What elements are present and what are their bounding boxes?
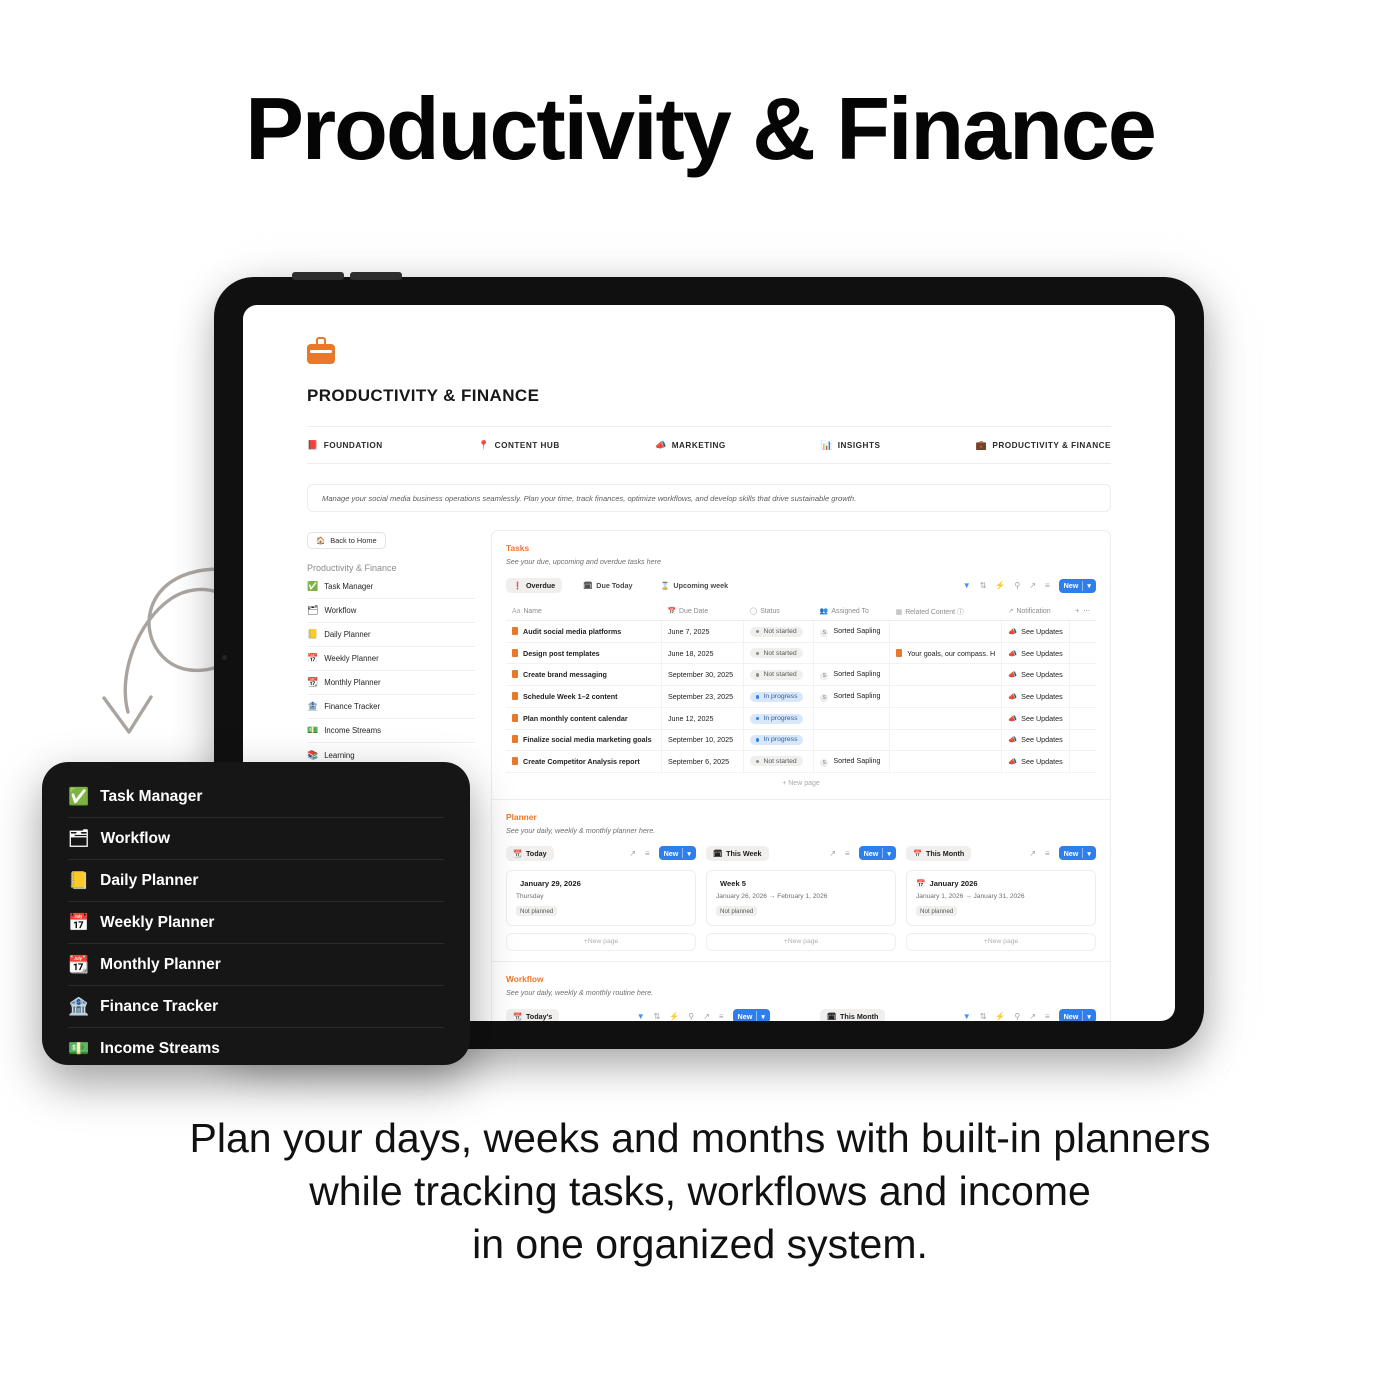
sidebar-item-label: Learning [324, 751, 354, 760]
cell-name[interactable]: Create Competitor Analysis report [506, 750, 661, 772]
status-badge: Not planned [716, 906, 757, 916]
cell-related-content[interactable] [890, 664, 1002, 686]
caption-line-2: while tracking tasks, workflows and inco… [0, 1165, 1400, 1218]
briefcase-icon [307, 337, 335, 364]
workflow-left-tools: ▼ ⇅ ⚡ ⚲ ↗ ≡ New ▾ [637, 1009, 770, 1021]
new-button[interactable]: New▾ [859, 846, 896, 860]
settings-icon[interactable]: ≡ [1045, 1012, 1050, 1021]
sort-icon[interactable]: ⇅ [980, 581, 987, 590]
home-icon: 🏠 [316, 536, 325, 545]
settings-icon[interactable]: ≡ [845, 849, 850, 858]
overdue-icon: ❗ [513, 581, 522, 590]
nav-label: INSIGHTS [838, 441, 881, 450]
page-description: Manage your social media business operat… [307, 484, 1111, 512]
sidebar-heading: Productivity & Finance [307, 563, 475, 573]
weekly-planner-icon: 📅 [307, 653, 318, 664]
planner-tools: ↗≡New▾ [629, 846, 696, 860]
expand-icon[interactable]: ↗ [829, 849, 836, 858]
planner-chip[interactable]: 📅This Month [906, 846, 971, 861]
sidebar-item-workflow[interactable]: 🗂 Workflow [307, 599, 475, 623]
foundation-icon: 📕 [307, 441, 319, 450]
page-icon [512, 627, 518, 635]
overlay-item-label: Income Streams [100, 1040, 220, 1058]
workflow-icon: 🗂 [68, 829, 90, 849]
marketing-icon: 📣 [655, 441, 667, 450]
planner-column-0: 📆Today↗≡New▾January 29, 2026ThursdayNot … [506, 846, 696, 951]
chevron-down-icon[interactable]: ▾ [1087, 849, 1091, 858]
chip-label: Today's [526, 1012, 552, 1021]
planner-card[interactable]: 📅January 2026January 1, 2026 → January 3… [906, 870, 1096, 926]
page-description-text: Manage your social media business operat… [322, 494, 856, 503]
sidebar-item-label: Weekly Planner [324, 654, 378, 663]
nav-label: PRODUCTIVITY & FINANCE [992, 441, 1111, 450]
automation-icon[interactable]: ⚡ [995, 1012, 1005, 1021]
planner-subtitle: See your daily, weekly & monthly planner… [506, 826, 1096, 835]
highlight-menu-overlay: ✅Task Manager🗂Workflow📒Daily Planner📅Wee… [42, 762, 470, 1065]
calendar-icon: 🗓 [827, 1012, 836, 1021]
tasks-title: Tasks [506, 543, 1096, 553]
overlay-item-label: Task Manager [100, 788, 202, 806]
workflow-toolbar-row: 📆 Today's ▼ ⇅ ⚡ ⚲ ↗ ≡ [506, 1009, 1096, 1021]
cell-name[interactable]: Design post templates [506, 643, 661, 664]
settings-icon[interactable]: ≡ [719, 1012, 724, 1021]
new-button[interactable]: New ▾ [733, 1009, 770, 1021]
calendar-icon: 📅 [913, 849, 922, 858]
nav-item-content-hub[interactable]: 📍 CONTENT HUB [478, 441, 560, 450]
col-status[interactable]: ◯Status [743, 602, 813, 621]
cell-due-date[interactable]: September 6, 2025 [661, 750, 743, 772]
tab-label: Due Today [596, 581, 632, 590]
status-badge: Not planned [516, 906, 557, 916]
cell-status[interactable]: Not started [743, 664, 813, 686]
page-title: PRODUCTIVITY & FINANCE [307, 386, 1153, 406]
cell-name[interactable]: Audit social media platforms [506, 621, 661, 643]
automation-icon[interactable]: ⚡ [669, 1012, 679, 1021]
cell-blank [1069, 621, 1096, 643]
hourglass-icon: ⌛ [660, 581, 669, 590]
cell-assigned-to[interactable] [814, 643, 890, 664]
col-assigned-to[interactable]: 👥Assigned To [814, 602, 890, 621]
expand-icon[interactable]: ↗ [703, 1012, 710, 1021]
chip-label: This Month [840, 1012, 878, 1021]
filter-icon[interactable]: ▼ [963, 581, 971, 590]
cell-assigned-to[interactable]: SSorted Sapling [814, 750, 890, 772]
sort-icon[interactable]: ⇅ [654, 1012, 661, 1021]
cell-due-date[interactable]: September 23, 2025 [661, 686, 743, 708]
chevron-down-icon[interactable]: ▾ [761, 1012, 765, 1021]
tasks-table-header: AaName 📅Due Date ◯Status 👥Assigned To ▦R… [506, 602, 1096, 621]
col-notification[interactable]: ↗Notification [1002, 602, 1070, 621]
sidebar-item-finance-tracker[interactable]: 🏦 Finance Tracker [307, 695, 475, 719]
planner-card[interactable]: Week 5January 26, 2026 → February 1, 202… [706, 870, 896, 926]
cell-related-content[interactable]: Your goals, our compass. H [890, 643, 1002, 664]
table-row[interactable]: Schedule Week 1–2 contentSeptember 23, 2… [506, 686, 1096, 708]
daily-planner-icon: 📒 [68, 871, 89, 891]
cell-notification[interactable]: 📣See Updates [1002, 708, 1070, 729]
cell-name[interactable]: Finalize social media marketing goals [506, 729, 661, 750]
overlay-item-label: Weekly Planner [100, 914, 214, 932]
sidebar-item-label: Task Manager [324, 582, 373, 591]
workflow-today-chip[interactable]: 📆 Today's [506, 1009, 559, 1021]
daily-planner-icon: 📒 [307, 629, 318, 640]
cell-assigned-to[interactable]: SSorted Sapling [814, 664, 890, 686]
table-row[interactable]: Plan monthly content calendarJune 12, 20… [506, 708, 1096, 729]
cell-assigned-to[interactable] [814, 729, 890, 750]
cell-due-date[interactable]: September 10, 2025 [661, 729, 743, 750]
table-row[interactable]: Finalize social media marketing goalsSep… [506, 729, 1096, 750]
overlay-item-finance-tracker[interactable]: 🏦Finance Tracker [68, 986, 444, 1028]
workflow-icon: 🗂 [307, 605, 318, 616]
cell-status[interactable]: Not started [743, 621, 813, 643]
income-streams-icon: 💵 [68, 1039, 89, 1059]
sidebar-item-label: Daily Planner [324, 630, 370, 639]
cell-due-date[interactable]: September 30, 2025 [661, 664, 743, 686]
nav-item-insights[interactable]: 📊 INSIGHTS [821, 441, 880, 450]
planner-chip[interactable]: 📆Today [506, 846, 554, 861]
workflow-right-tools: ▼ ⇅ ⚡ ⚲ ↗ ≡ New ▾ [963, 1009, 1096, 1021]
chevron-down-icon[interactable]: ▾ [887, 849, 891, 858]
expand-icon[interactable]: ↗ [629, 849, 636, 858]
cell-blank [1069, 686, 1096, 708]
col-name[interactable]: AaName [506, 602, 661, 621]
planner-column-2: 📅This Month↗≡New▾📅January 2026January 1,… [906, 846, 1096, 951]
cell-related-content[interactable] [890, 750, 1002, 772]
weekly-planner-icon: 📅 [68, 913, 89, 933]
expand-icon[interactable]: ↗ [1029, 581, 1036, 590]
tasks-view-tabs: ❗ Overdue 🗓 Due Today ⌛ Upcoming week ▼ [506, 578, 1096, 593]
table-row[interactable]: Design post templatesJune 18, 2025Not st… [506, 643, 1096, 664]
workflow-this-month-chip[interactable]: 🗓 This Month [820, 1009, 885, 1021]
overlay-item-weekly-planner[interactable]: 📅Weekly Planner [68, 902, 444, 944]
filter-icon[interactable]: ▼ [637, 1012, 645, 1021]
cell-notification[interactable]: 📣See Updates [1002, 643, 1070, 664]
planner-column-1: 🗓This Week↗≡New▾Week 5January 26, 2026 →… [706, 846, 896, 951]
finance-tracker-icon: 🏦 [307, 701, 318, 712]
search-icon[interactable]: ⚲ [688, 1012, 694, 1021]
sidebar-item-daily-planner[interactable]: 📒 Daily Planner [307, 623, 475, 647]
expand-icon[interactable]: ↗ [1029, 1012, 1036, 1021]
avatar: S [820, 672, 828, 680]
new-button[interactable]: New ▾ [1059, 579, 1096, 593]
cell-notification[interactable]: 📣See Updates [1002, 686, 1070, 708]
table-row[interactable]: Create Competitor Analysis reportSeptemb… [506, 750, 1096, 772]
chevron-down-icon[interactable]: ▾ [1087, 581, 1091, 590]
page-caption: Plan your days, weeks and months with bu… [0, 1112, 1400, 1271]
cell-name[interactable]: Plan monthly content calendar [506, 708, 661, 729]
monthly-planner-icon: 📆 [307, 677, 318, 688]
cell-due-date[interactable]: June 18, 2025 [661, 643, 743, 664]
nav-label: FOUNDATION [324, 441, 383, 450]
calendar-icon: 📆 [513, 849, 522, 858]
cell-blank [1069, 643, 1096, 664]
cell-notification[interactable]: 📣See Updates [1002, 664, 1070, 686]
planner-card[interactable]: January 29, 2026ThursdayNot planned [506, 870, 696, 926]
cell-related-content[interactable] [890, 686, 1002, 708]
cell-status[interactable]: In progress [743, 729, 813, 750]
avatar: S [820, 629, 828, 637]
overlay-item-label: Workflow [101, 830, 170, 848]
table-row[interactable]: Audit social media platformsJune 7, 2025… [506, 621, 1096, 643]
cell-due-date[interactable]: June 7, 2025 [661, 621, 743, 643]
tasks-subtitle: See your due, upcoming and overdue tasks… [506, 557, 1096, 566]
chevron-down-icon[interactable]: ▾ [1087, 1012, 1091, 1021]
cell-notification[interactable]: 📣See Updates [1002, 729, 1070, 750]
planner-section: Planner See your daily, weekly & monthly… [492, 800, 1110, 962]
planner-tools: ↗≡New▾ [1029, 846, 1096, 860]
page-headline: Productivity & Finance [0, 78, 1400, 180]
tablet-camera [222, 655, 227, 660]
nav-label: MARKETING [672, 441, 726, 450]
tab-upcoming-week[interactable]: ⌛ Upcoming week [653, 578, 735, 593]
cell-status[interactable]: In progress [743, 686, 813, 708]
new-button-label: New [1064, 581, 1079, 590]
avatar: S [820, 759, 828, 767]
sidebar-item-label: Finance Tracker [324, 702, 380, 711]
calendar-icon: 🗓 [713, 849, 722, 858]
content-hub-icon: 📍 [478, 441, 490, 450]
workflow-title: Workflow [506, 974, 1096, 984]
tasks-toolbar: ▼ ⇅ ⚡ ⚲ ↗ ≡ New ▾ [963, 579, 1096, 593]
new-button[interactable]: New▾ [659, 846, 696, 860]
overlay-item-daily-planner[interactable]: 📒Daily Planner [68, 860, 444, 902]
planner-new-page-button[interactable]: + New page [506, 933, 696, 951]
overlay-item-task-manager[interactable]: ✅Task Manager [68, 776, 444, 818]
page-icon [512, 735, 518, 743]
tablet-volume-buttons [292, 272, 402, 280]
tasks-section: Tasks See your due, upcoming and overdue… [492, 531, 1110, 800]
expand-icon[interactable]: ↗ [1029, 849, 1036, 858]
nav-item-marketing[interactable]: 📣 MARKETING [655, 441, 726, 450]
sidebar-item-monthly-planner[interactable]: 📆 Monthly Planner [307, 671, 475, 695]
caption-line-3: in one organized system. [0, 1218, 1400, 1271]
cell-status[interactable]: Not started [743, 750, 813, 772]
col-related-content[interactable]: ▦Related Content ⓘ [890, 602, 1002, 621]
overlay-item-income-streams[interactable]: 💵Income Streams [68, 1028, 444, 1070]
cell-name[interactable]: Create brand messaging [506, 664, 661, 686]
new-button-label: New [1064, 1012, 1079, 1021]
page-icon [896, 649, 902, 657]
tab-due-today[interactable]: 🗓 Due Today [576, 578, 639, 593]
calendar-icon: 📆 [513, 1012, 522, 1021]
productivity-finance-icon: 💼 [976, 441, 988, 450]
main-panel: Tasks See your due, upcoming and overdue… [491, 530, 1111, 1021]
new-button[interactable]: New▾ [1059, 846, 1096, 860]
finance-tracker-icon: 🏦 [68, 997, 89, 1017]
insights-icon: 📊 [821, 441, 833, 450]
planner-title: Planner [506, 812, 1096, 822]
monthly-planner-icon: 📆 [68, 955, 89, 975]
sidebar-item-weekly-planner[interactable]: 📅 Weekly Planner [307, 647, 475, 671]
overlay-item-label: Finance Tracker [100, 998, 218, 1016]
back-to-home-button[interactable]: 🏠 Back to Home [307, 532, 386, 549]
settings-icon[interactable]: ≡ [1045, 849, 1050, 858]
tab-label: Overdue [526, 581, 555, 590]
cell-notification[interactable]: 📣See Updates [1002, 621, 1070, 643]
page-icon [512, 649, 518, 657]
planner-chip[interactable]: 🗓This Week [706, 846, 769, 861]
sort-icon[interactable]: ⇅ [980, 1012, 987, 1021]
task-manager-icon: ✅ [307, 581, 318, 592]
search-icon[interactable]: ⚲ [1014, 581, 1020, 590]
page-icon [512, 670, 518, 678]
avatar: S [820, 694, 828, 702]
workflow-subtitle: See your daily, weekly & monthly routine… [506, 988, 1096, 997]
cell-assigned-to[interactable]: SSorted Sapling [814, 686, 890, 708]
page-icon [512, 757, 518, 765]
workflow-section: Workflow See your daily, weekly & monthl… [492, 962, 1110, 1021]
overlay-item-label: Monthly Planner [100, 956, 221, 974]
nav-item-foundation[interactable]: 📕 FOUNDATION [307, 441, 383, 450]
cell-status[interactable]: In progress [743, 708, 813, 729]
top-nav: 📕 FOUNDATION 📍 CONTENT HUB 📣 MARKETING 📊… [307, 426, 1111, 464]
col-due-date[interactable]: 📅Due Date [661, 602, 743, 621]
overlay-item-workflow[interactable]: 🗂Workflow [68, 818, 444, 860]
cell-related-content[interactable] [890, 708, 1002, 729]
cell-blank [1069, 708, 1096, 729]
sidebar-item-label: Income Streams [324, 726, 381, 735]
nav-item-productivity-finance[interactable]: 💼 PRODUCTIVITY & FINANCE [976, 441, 1111, 450]
overlay-item-monthly-planner[interactable]: 📆Monthly Planner [68, 944, 444, 986]
filter-icon[interactable]: ▼ [963, 1012, 971, 1021]
new-button[interactable]: New ▾ [1059, 1009, 1096, 1021]
cell-blank [1069, 664, 1096, 686]
new-button-label: New [738, 1012, 753, 1021]
caption-line-1: Plan your days, weeks and months with bu… [0, 1112, 1400, 1165]
overlay-item-label: Daily Planner [100, 872, 198, 890]
cell-blank [1069, 750, 1096, 772]
cell-notification[interactable]: 📣See Updates [1002, 750, 1070, 772]
cell-blank [1069, 729, 1096, 750]
planner-tools: ↗≡New▾ [829, 846, 896, 860]
task-manager-icon: ✅ [68, 787, 89, 807]
sidebar-item-label: Monthly Planner [324, 678, 380, 687]
table-row[interactable]: Create brand messagingSeptember 30, 2025… [506, 664, 1096, 686]
cell-assigned-to[interactable] [814, 708, 890, 729]
cell-status[interactable]: Not started [743, 643, 813, 664]
planner-new-page-button[interactable]: + New page [706, 933, 896, 951]
calendar-icon: 🗓 [583, 581, 592, 590]
page-icon [512, 692, 518, 700]
col-add[interactable]: + ⋯ [1069, 602, 1096, 621]
cell-assigned-to[interactable]: SSorted Sapling [814, 621, 890, 643]
learning-icon: 📚 [307, 750, 318, 761]
tasks-table: AaName 📅Due Date ◯Status 👥Assigned To ▦R… [506, 602, 1096, 773]
automation-icon[interactable]: ⚡ [995, 581, 1005, 590]
cell-related-content[interactable] [890, 729, 1002, 750]
sidebar-item-income-streams[interactable]: 💵 Income Streams [307, 719, 475, 743]
cell-due-date[interactable]: June 12, 2025 [661, 708, 743, 729]
settings-icon[interactable]: ≡ [645, 849, 650, 858]
settings-icon[interactable]: ≡ [1045, 581, 1050, 590]
sidebar-item-label: Workflow [324, 606, 356, 615]
tab-label: Upcoming week [673, 581, 728, 590]
tasks-new-page-button[interactable]: + New page [506, 773, 1096, 789]
status-badge: Not planned [916, 906, 957, 916]
cell-name[interactable]: Schedule Week 1–2 content [506, 686, 661, 708]
back-to-home-label: Back to Home [330, 536, 376, 545]
sidebar-item-task-manager[interactable]: ✅ Task Manager [307, 575, 475, 599]
search-icon[interactable]: ⚲ [1014, 1012, 1020, 1021]
cell-related-content[interactable] [890, 621, 1002, 643]
page-icon [512, 714, 518, 722]
chevron-down-icon[interactable]: ▾ [687, 849, 691, 858]
nav-label: CONTENT HUB [495, 441, 560, 450]
planner-new-page-button[interactable]: + New page [906, 933, 1096, 951]
income-streams-icon: 💵 [307, 725, 318, 736]
tab-overdue[interactable]: ❗ Overdue [506, 578, 562, 593]
